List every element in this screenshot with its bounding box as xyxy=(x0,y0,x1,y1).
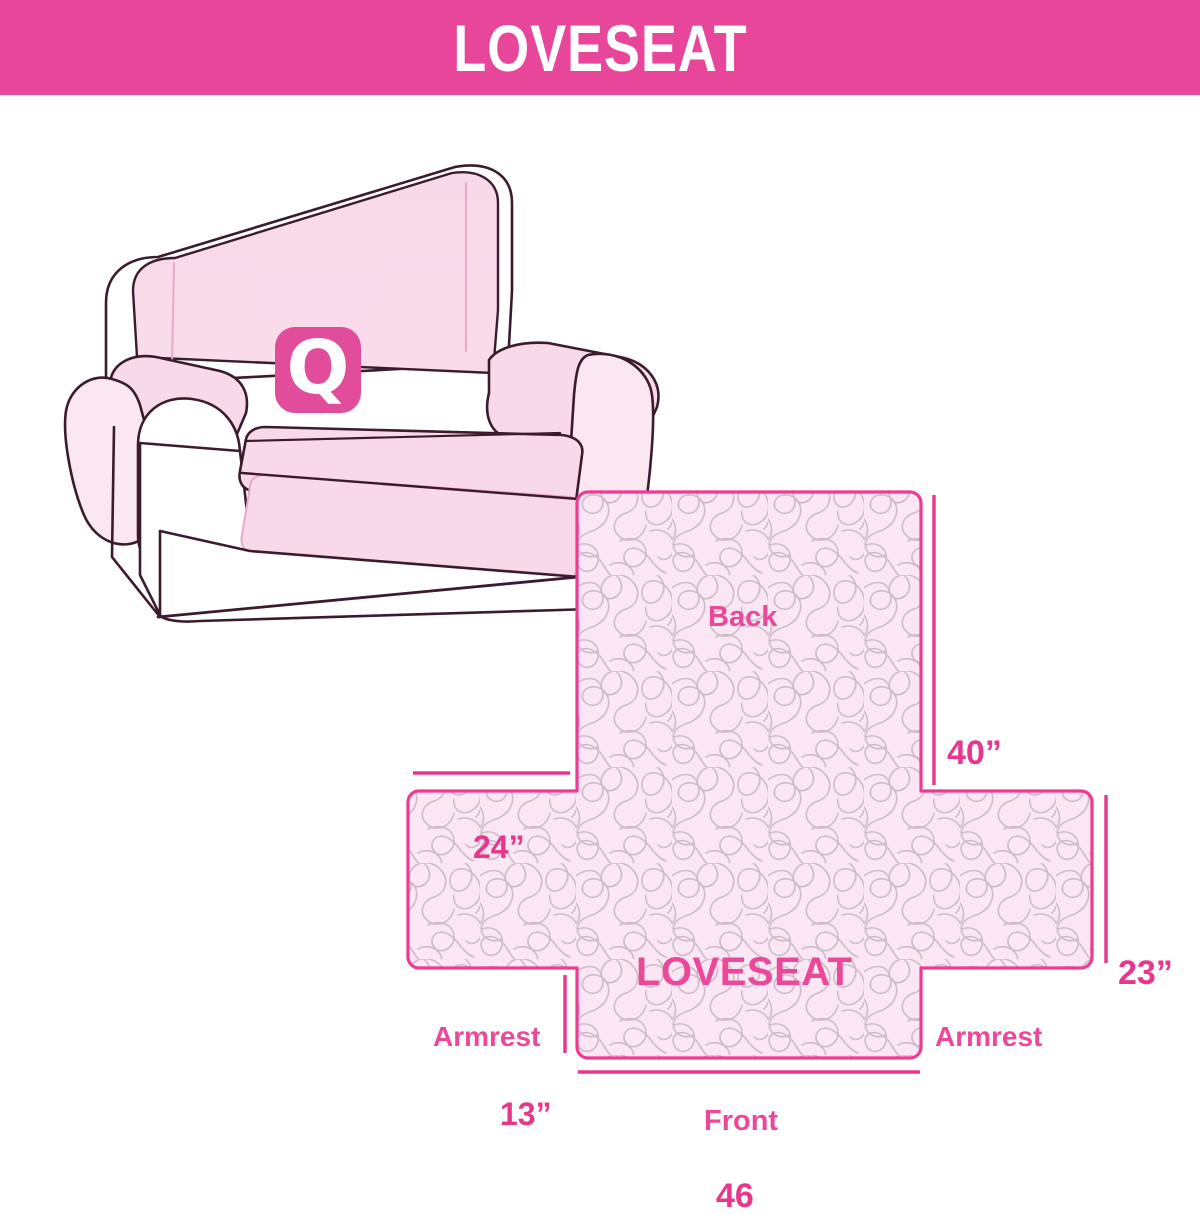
flat-lay-center-label: LOVESEAT xyxy=(636,952,853,992)
dimension-label-seat-depth: 23” xyxy=(1118,956,1173,990)
dimension-label-front-drop: 13” xyxy=(500,1098,552,1130)
header-banner: LOVESEAT xyxy=(0,0,1200,95)
page-title: LOVESEAT xyxy=(453,15,747,81)
dimension-label-back-depth: 40” xyxy=(947,736,1002,770)
dimension-label-overall-width: 46 xyxy=(716,1179,754,1213)
diagram-stage: Q xyxy=(0,95,1200,1200)
dimension-label-armrest-width: 24” xyxy=(473,831,525,863)
panel-label-back: Back xyxy=(708,603,777,632)
panel-label-front: Front xyxy=(704,1107,778,1136)
panel-label-armrest-left: Armrest xyxy=(433,1023,540,1051)
panel-label-armrest-right: Armrest xyxy=(935,1023,1042,1051)
